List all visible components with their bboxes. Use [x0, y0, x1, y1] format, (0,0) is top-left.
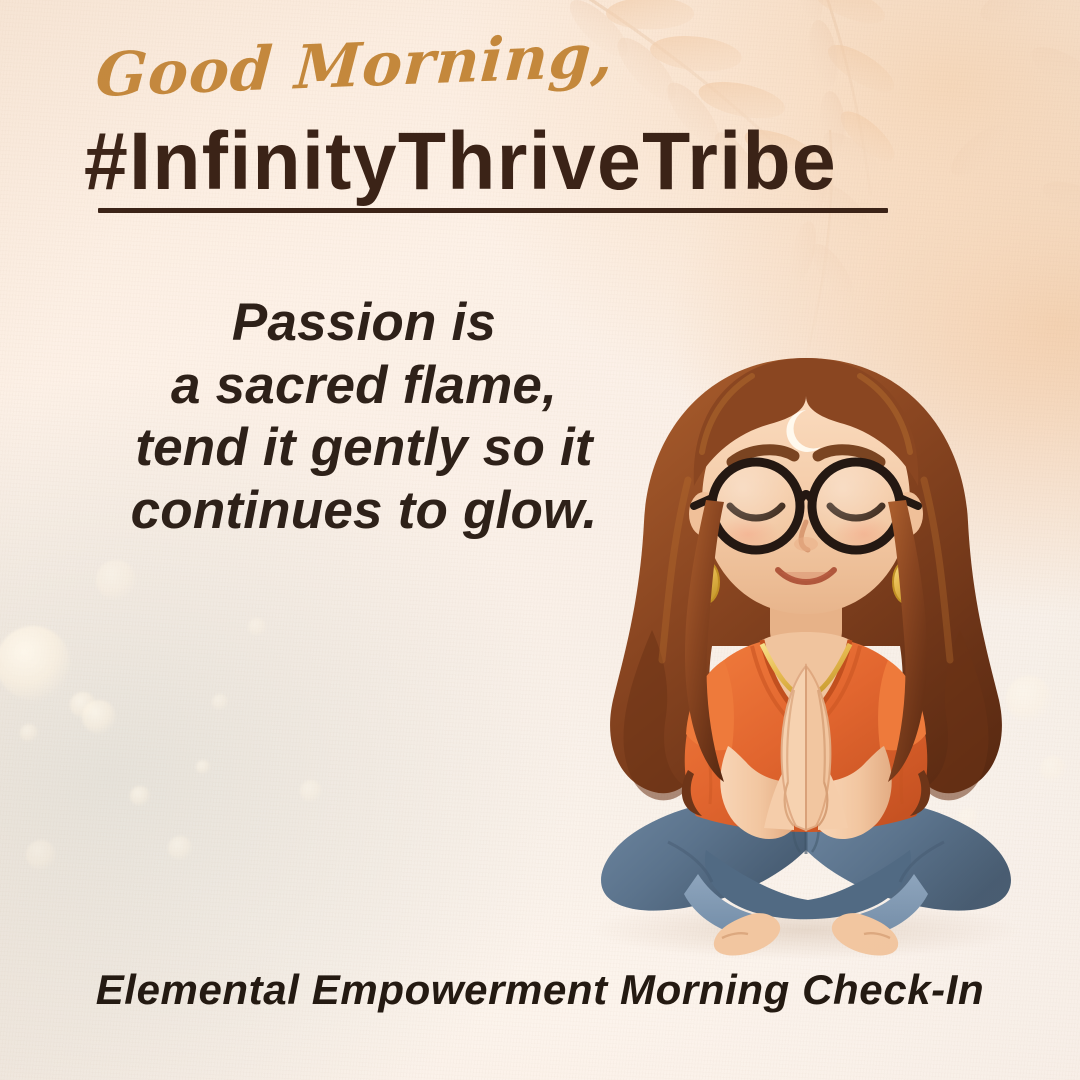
vignette-overlay	[0, 0, 1080, 1080]
poster-canvas: Good Morning, #InfinityThriveTribe Passi…	[0, 0, 1080, 1080]
caption-text: Elemental Empowerment Morning Check-In	[0, 966, 1080, 1014]
